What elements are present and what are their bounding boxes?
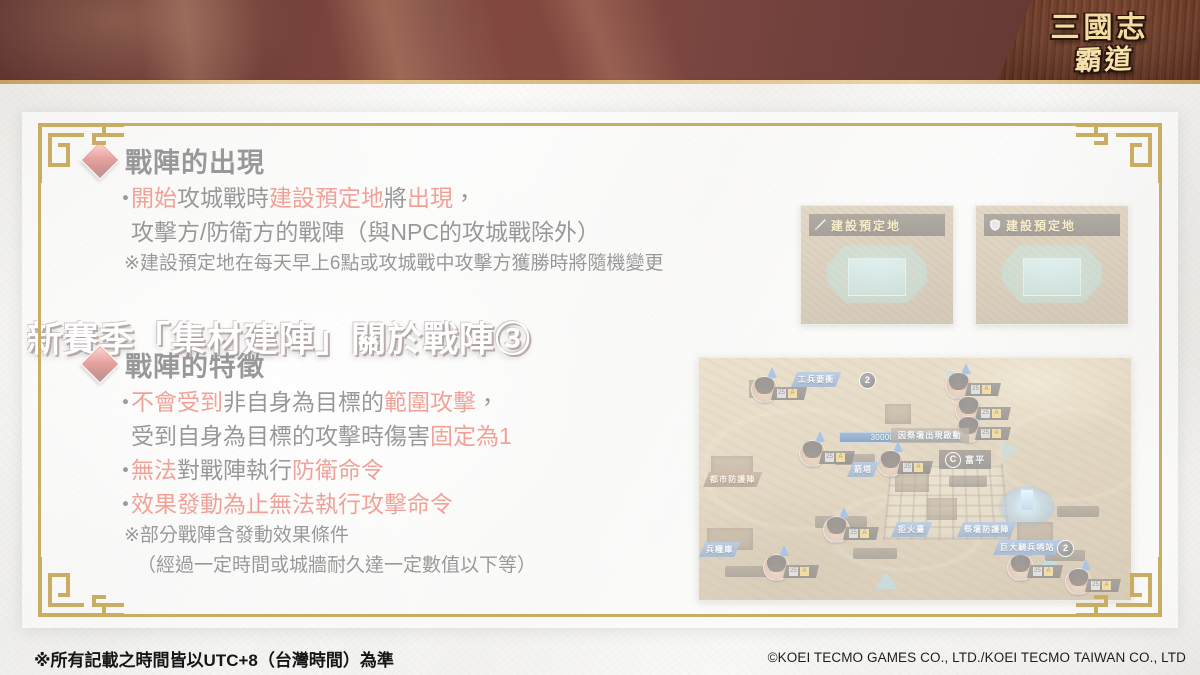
footer-copyright: ©KOEI TECMO GAMES CO., LTD./KOEI TECMO T…: [768, 650, 1186, 665]
ornament-corner-top-left: [32, 117, 128, 187]
logo-subtitle-text: 霸道: [1049, 36, 1161, 79]
ornament-corner-bottom-right: [1072, 553, 1168, 623]
game-logo: 三國志 霸道: [1006, 2, 1186, 82]
gold-frame-border: [38, 123, 1162, 617]
content-panel: [22, 112, 1178, 628]
slide-root: 新賽季「集材建陣」關於戰陣③ 三國志 霸道 戰陣的出現: [0, 0, 1200, 675]
footer-timezone-note: ※所有記載之時間皆以UTC+8（台灣時間）為準: [34, 646, 394, 671]
ornament-corner-bottom-left: [32, 553, 128, 623]
ornament-corner-top-right: [1072, 117, 1168, 187]
